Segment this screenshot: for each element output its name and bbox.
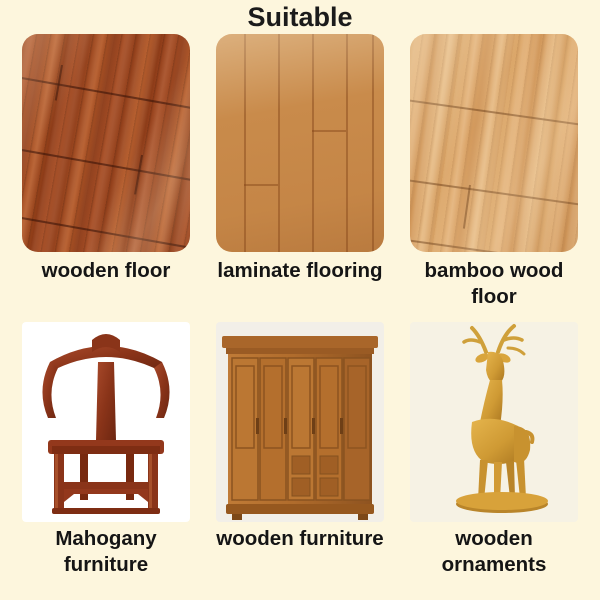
dark-red-wooden-floor-photo bbox=[22, 34, 190, 252]
laminate-gloss-overlay bbox=[216, 34, 384, 252]
grid-item-bamboo-wood-floor: bamboo wood floor bbox=[410, 34, 578, 310]
grid-item-laminate-flooring: laminate flooring bbox=[216, 34, 384, 310]
caption-wooden-ornaments: wooden ornaments bbox=[402, 526, 587, 578]
caption-laminate-flooring: laminate flooring bbox=[208, 258, 393, 284]
image-grid: wooden floor laminate flooring bbox=[0, 34, 600, 578]
bamboo-gloss-overlay bbox=[410, 34, 578, 252]
orange-laminate-flooring-photo bbox=[216, 34, 384, 252]
grid-row-bottom: Mahogany furniture bbox=[0, 322, 600, 578]
mahogany-armchair-photo bbox=[22, 322, 190, 522]
caption-bamboo-wood-floor: bamboo wood floor bbox=[402, 258, 587, 310]
caption-wooden-furniture: wooden furniture bbox=[208, 526, 393, 552]
carved-wooden-deer-ornament-photo bbox=[410, 322, 578, 522]
suitable-surfaces-infographic: Suitable wooden floor bbox=[0, 0, 600, 600]
wooden-wardrobe-photo bbox=[216, 322, 384, 522]
caption-wooden-floor: wooden floor bbox=[14, 258, 199, 284]
grid-item-wooden-furniture: wooden furniture bbox=[216, 322, 384, 578]
grid-item-wooden-floor: wooden floor bbox=[22, 34, 190, 310]
grid-item-mahogany-furniture: Mahogany furniture bbox=[22, 322, 190, 578]
caption-mahogany-furniture: Mahogany furniture bbox=[14, 526, 199, 578]
grid-item-wooden-ornaments: wooden ornaments bbox=[410, 322, 578, 578]
floor-gloss-overlay bbox=[22, 34, 190, 252]
tan-bamboo-wood-floor-photo bbox=[410, 34, 578, 252]
wooden-deer-illustration bbox=[410, 322, 578, 522]
page-title: Suitable bbox=[0, 0, 600, 32]
armchair-illustration bbox=[22, 322, 190, 522]
wardrobe-illustration bbox=[216, 322, 384, 522]
grid-row-top: wooden floor laminate flooring bbox=[0, 34, 600, 310]
